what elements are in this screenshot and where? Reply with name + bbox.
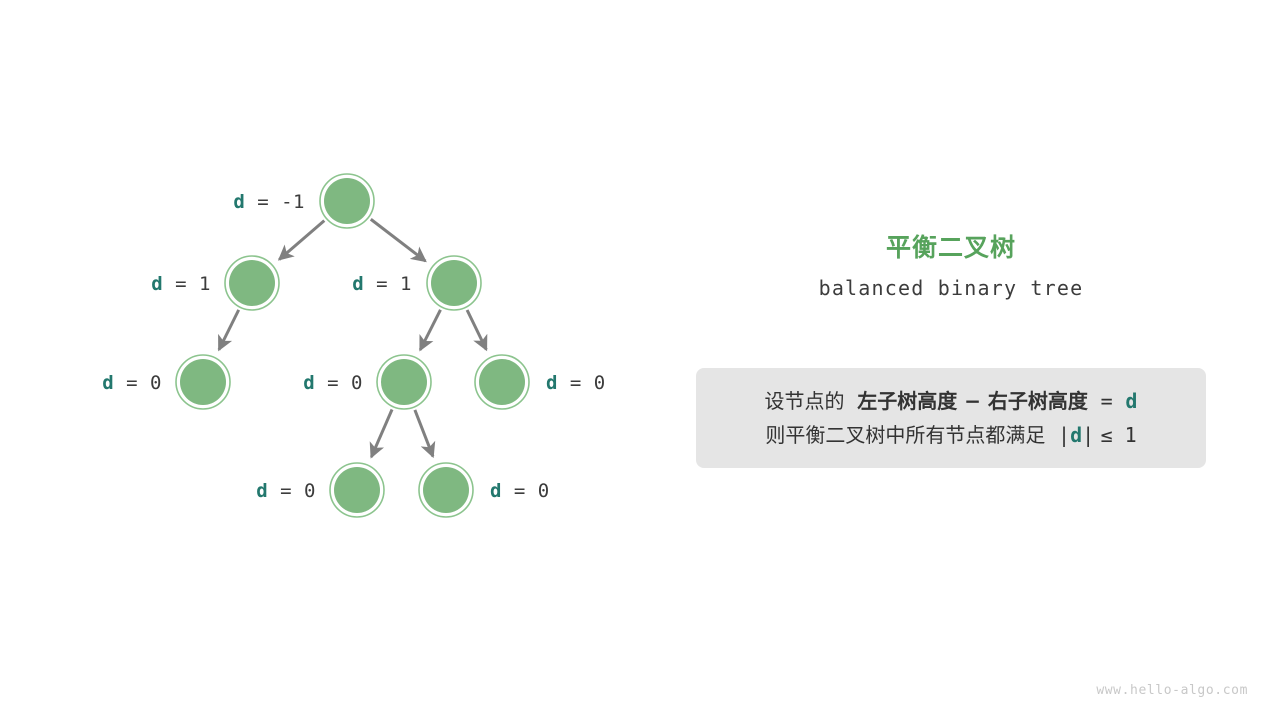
- tree-edge: [371, 219, 426, 261]
- tree-edge: [279, 221, 324, 260]
- watermark: www.hello-algo.com: [1096, 683, 1248, 698]
- tree-node[interactable]: [180, 359, 226, 405]
- tree-edges: [219, 219, 486, 457]
- node-balance-label: d = 0: [303, 372, 363, 394]
- node-label-d-symbol: d: [256, 480, 268, 502]
- definition-line2-bar-right: |: [1082, 423, 1094, 447]
- tree-node[interactable]: [479, 359, 525, 405]
- node-balance-label: d = 0: [490, 480, 550, 502]
- definition-box: 设节点的 左子树高度 − 右子树高度 = d 则平衡二叉树中所有节点都满足 |d…: [696, 368, 1206, 468]
- definition-line1-dvar: d: [1125, 389, 1137, 413]
- definition-line2-inequality: ≤ 1: [1101, 423, 1137, 447]
- diagram-canvas: d = -1d = 1d = 1d = 0d = 0d = 0d = 0d = …: [0, 0, 1280, 720]
- tree-node[interactable]: [229, 260, 275, 306]
- node-balance-label: d = 1: [352, 273, 412, 295]
- node-balance-label: d = 0: [102, 372, 162, 394]
- tree-edge: [415, 410, 433, 456]
- tree-edge: [467, 310, 486, 350]
- tree-edge: [420, 310, 440, 350]
- node-balance-label: d = 0: [546, 372, 606, 394]
- node-label-value: = 0: [558, 372, 606, 394]
- node-label-d-symbol: d: [352, 273, 364, 295]
- node-label-value: = 0: [114, 372, 162, 394]
- node-balance-label: d = 1: [151, 273, 211, 295]
- definition-line2-bar-left: |: [1058, 423, 1070, 447]
- tree-node[interactable]: [431, 260, 477, 306]
- node-label-d-symbol: d: [102, 372, 114, 394]
- node-label-d-symbol: d: [151, 273, 163, 295]
- definition-line2-dvar: d: [1070, 423, 1082, 447]
- node-label-value: = -1: [245, 191, 305, 213]
- definition-line1-part1: 设节点的: [765, 389, 845, 413]
- definition-line1-part2: 左子树高度 − 右子树高度: [857, 389, 1088, 413]
- node-label-value: = 0: [502, 480, 550, 502]
- tree-edge: [371, 410, 392, 457]
- node-label-d-symbol: d: [233, 191, 245, 213]
- tree-nodes: [176, 174, 529, 517]
- tree-graphics: [0, 0, 680, 720]
- tree-node[interactable]: [334, 467, 380, 513]
- definition-line-2: 则平衡二叉树中所有节点都满足 |d| ≤ 1: [696, 418, 1206, 452]
- tree-diagram: d = -1d = 1d = 1d = 0d = 0d = 0d = 0d = …: [0, 0, 680, 720]
- definition-line1-equals: =: [1101, 389, 1113, 413]
- definition-line2-part1: 则平衡二叉树中所有节点都满足: [765, 423, 1045, 447]
- panel-subtitle: balanced binary tree: [696, 276, 1206, 300]
- definition-line-1: 设节点的 左子树高度 − 右子树高度 = d: [696, 384, 1206, 418]
- tree-node[interactable]: [423, 467, 469, 513]
- tree-node[interactable]: [324, 178, 370, 224]
- node-label-value: = 1: [364, 273, 412, 295]
- node-balance-label: d = -1: [233, 191, 305, 213]
- node-label-d-symbol: d: [303, 372, 315, 394]
- node-label-d-symbol: d: [546, 372, 558, 394]
- node-label-value: = 0: [315, 372, 363, 394]
- node-label-value: = 1: [163, 273, 211, 295]
- info-panel: 平衡二叉树 balanced binary tree 设节点的 左子树高度 − …: [696, 0, 1206, 720]
- node-label-d-symbol: d: [490, 480, 502, 502]
- panel-title: 平衡二叉树: [696, 228, 1206, 264]
- tree-edge: [219, 310, 239, 350]
- node-label-value: = 0: [268, 480, 316, 502]
- node-balance-label: d = 0: [256, 480, 316, 502]
- tree-node[interactable]: [381, 359, 427, 405]
